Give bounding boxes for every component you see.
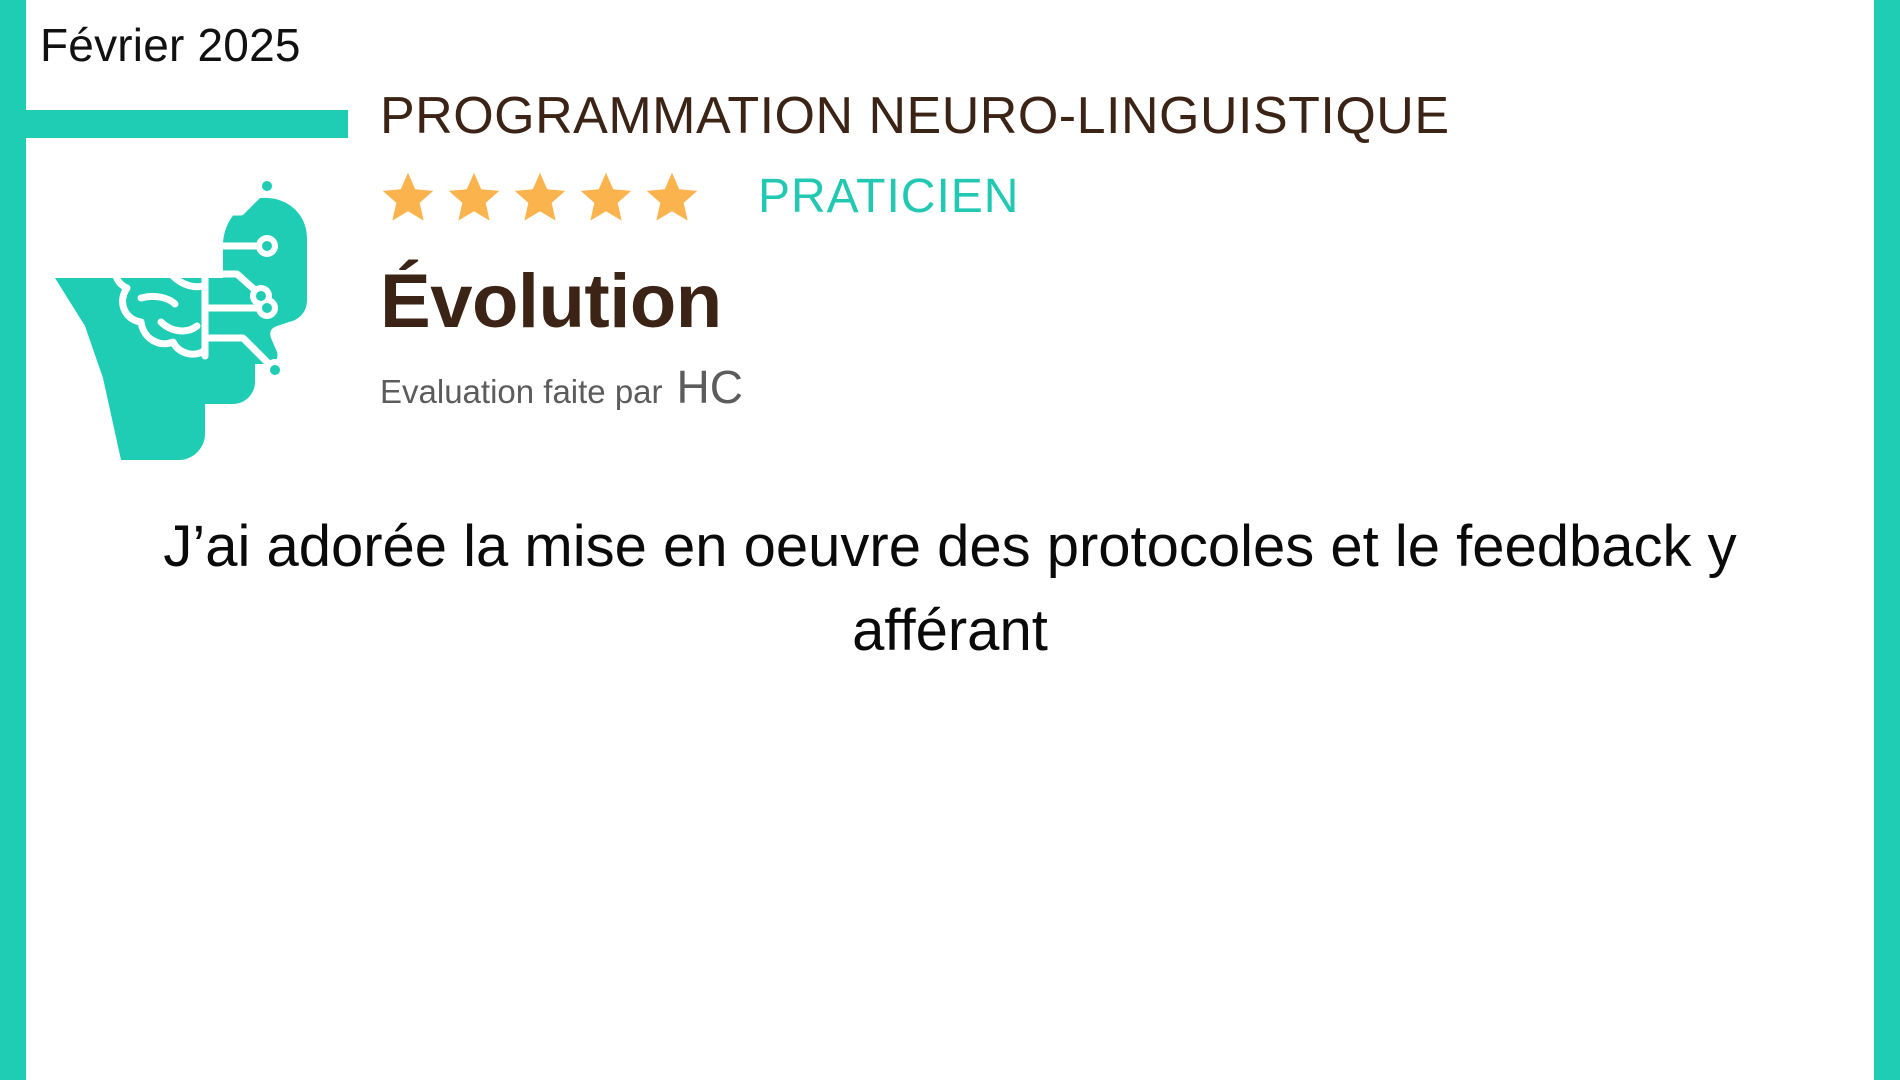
byline-author: HC (677, 364, 743, 410)
rating-row: PRATICIEN (380, 166, 1820, 228)
star-rating (380, 169, 700, 225)
star-icon (380, 169, 436, 225)
byline-label: Evaluation faite par (380, 375, 663, 408)
star-icon (446, 169, 502, 225)
left-accent-bar (0, 0, 26, 1080)
testimonial-card: Février 2025 (0, 0, 1900, 1080)
brain-circuit-head-icon (55, 150, 315, 460)
evaluation-name: Évolution (380, 262, 1820, 342)
testimonial-comment: J’ai adorée la mise en oeuvre des protoc… (90, 505, 1810, 673)
byline: Evaluation faite par HC (380, 364, 1820, 410)
course-level-label: PRATICIEN (758, 173, 1019, 221)
date-label: Février 2025 (40, 22, 301, 68)
star-icon (512, 169, 568, 225)
star-icon (578, 169, 634, 225)
date-underline-bar (0, 110, 348, 138)
course-title: PROGRAMMATION NEURO-LINGUISTIQUE (380, 88, 1820, 144)
star-icon (644, 169, 700, 225)
testimonial-content: PROGRAMMATION NEURO-LINGUISTIQUE (380, 88, 1820, 410)
right-accent-bar (1874, 0, 1900, 1080)
